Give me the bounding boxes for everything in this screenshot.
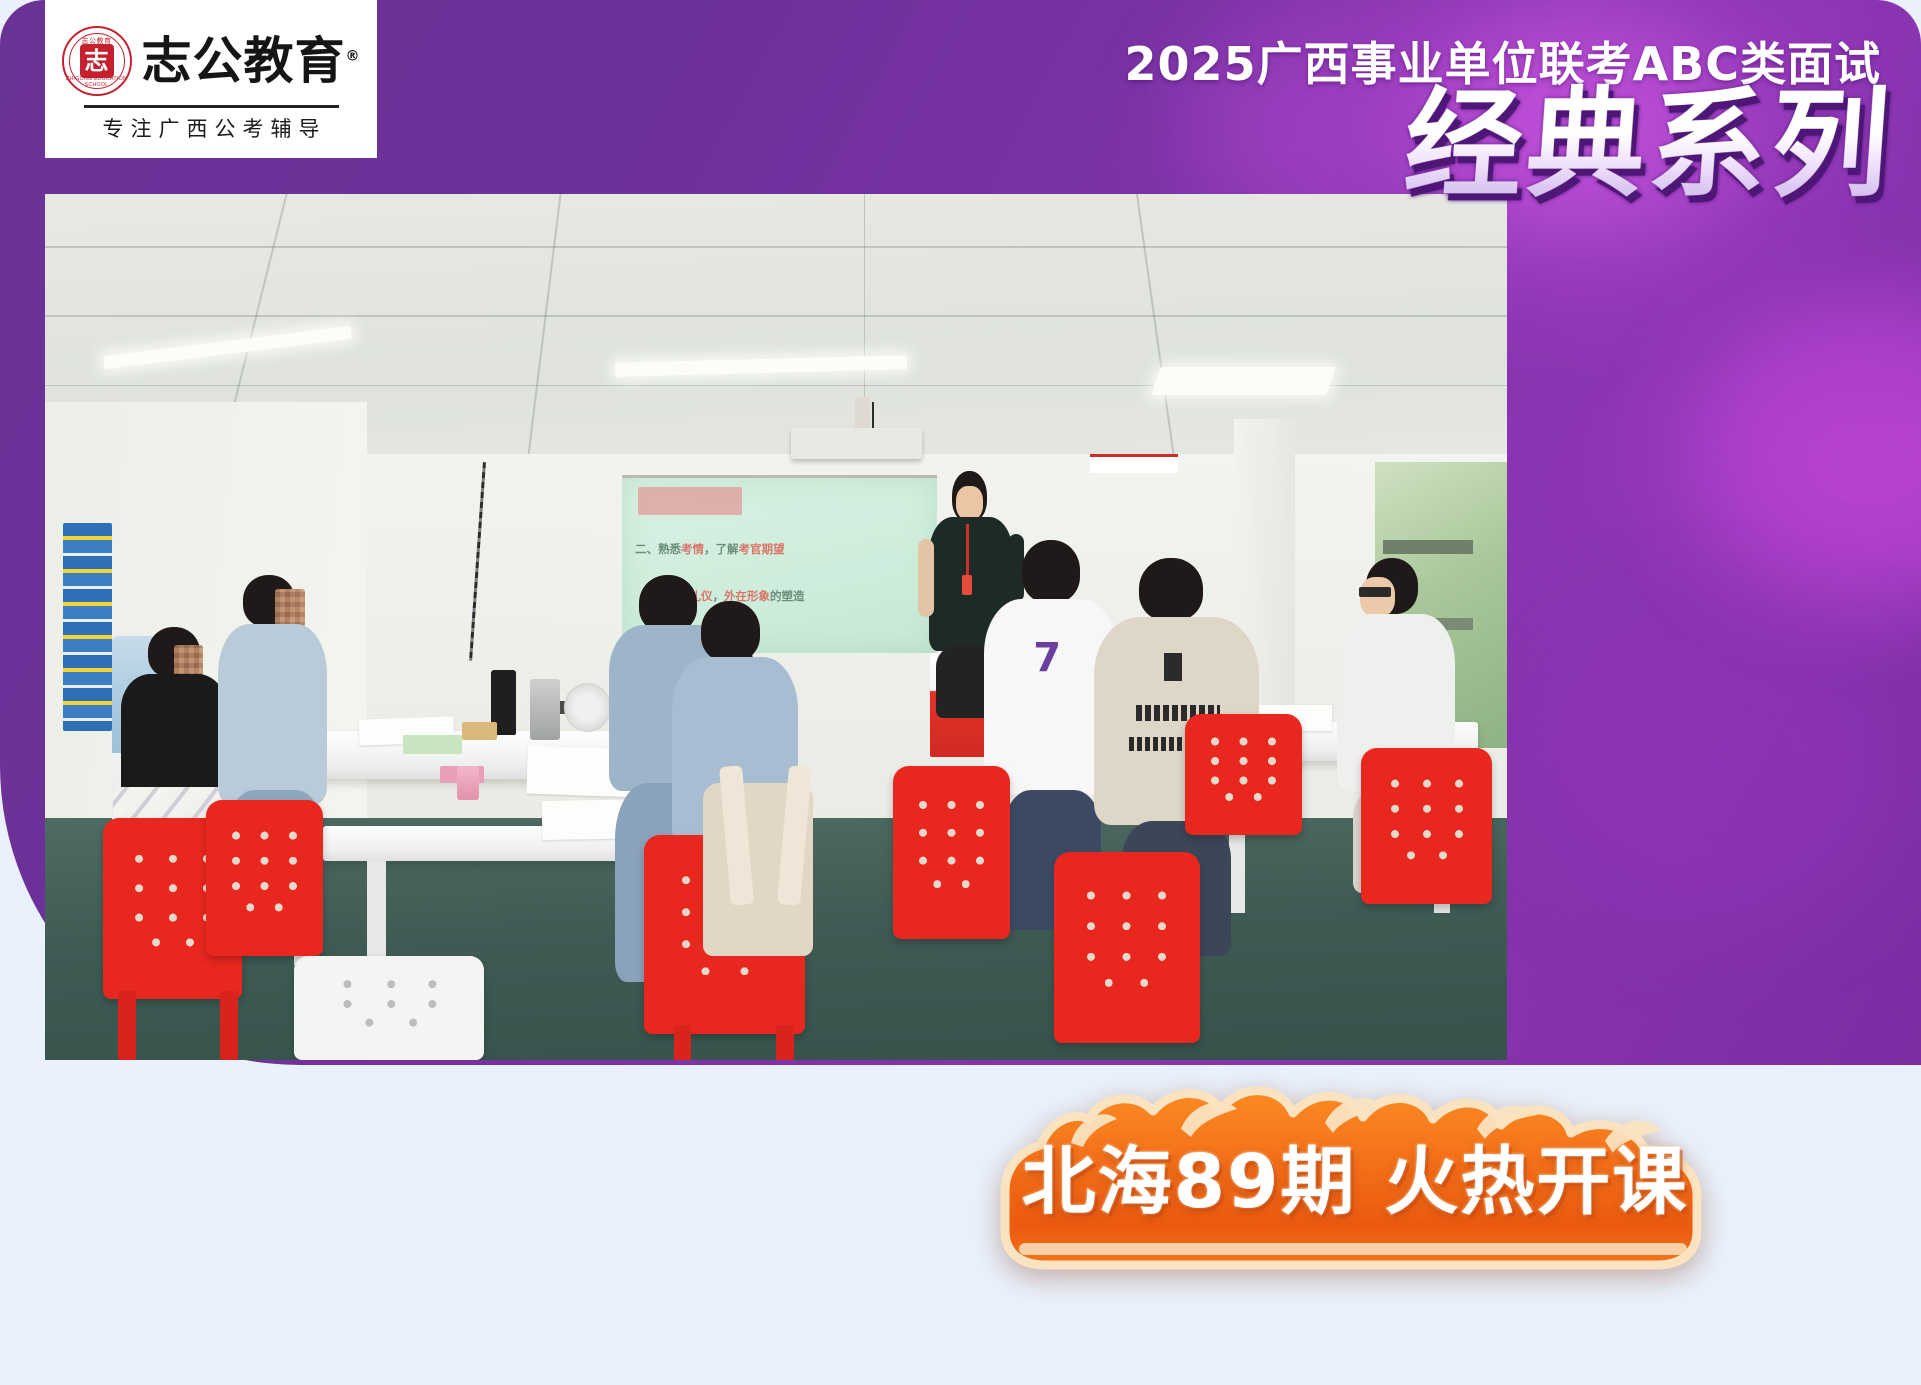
student-e-head	[1022, 540, 1080, 602]
logo-divider	[84, 105, 339, 108]
glow-blob-4	[1540, 620, 1900, 920]
chair-leg	[220, 991, 238, 1060]
poster-root: 志公教育 志 ZHIGONG EDUCATION SCHOOL 志公教育® 专注…	[0, 0, 1921, 1385]
glasses-icon	[1359, 587, 1391, 597]
teacher-badge	[962, 575, 973, 594]
jersey-number: 7	[1033, 638, 1061, 678]
pink-cup	[457, 766, 479, 801]
chair-red	[206, 800, 323, 956]
projector-mount	[855, 397, 870, 432]
chair-red	[1054, 852, 1200, 1043]
student-f-head	[1139, 558, 1202, 622]
brand-name-text: 志公教育	[142, 32, 346, 90]
chair-leg	[674, 1025, 692, 1060]
slide-line-1: 二、熟悉考情，了解考官期望	[635, 541, 924, 557]
teacher-face	[956, 486, 983, 520]
chair-red	[1361, 748, 1493, 904]
brand-seal-icon: 志公教育 志 ZHIGONG EDUCATION SCHOOL	[62, 26, 132, 96]
ceiling-light	[1152, 367, 1336, 395]
book-green	[403, 735, 461, 754]
glow-blob-2	[1700, 300, 1921, 600]
chair-red	[1185, 714, 1302, 835]
tee-print-block	[1164, 653, 1182, 681]
classroom-photo: 二、熟悉考情，了解考官期望 学习礼仪，外在形象的塑造	[45, 194, 1507, 1060]
window-rail	[1383, 540, 1474, 554]
student-b-face-mosaic	[275, 589, 305, 627]
brand-tagline: 专注广西公考辅导	[96, 113, 327, 143]
registered-mark: ®	[346, 48, 361, 64]
brand-logo-box: 志公教育 志 ZHIGONG EDUCATION SCHOOL 志公教育® 专注…	[45, 0, 377, 158]
promo-banner[interactable]: 北海89期 火热开课	[985, 1073, 1725, 1273]
student-b-top	[218, 624, 327, 804]
slide-l1-em2: 考官期望	[739, 542, 785, 556]
chair-leg	[118, 991, 136, 1060]
ceiling-grid-line	[45, 246, 1507, 248]
seal-center-char: 志	[80, 44, 114, 78]
slide-l1-prefix: 二、熟悉	[635, 542, 681, 556]
chair-red	[893, 766, 1010, 939]
student-g-face	[1360, 577, 1394, 616]
page-title: 经典系列	[1400, 78, 1897, 210]
student-a-top	[121, 674, 226, 798]
teacher-lanyard	[966, 524, 969, 577]
ceiling-grid-line	[45, 315, 1507, 317]
thermos-cup	[530, 679, 559, 740]
slide-l1-em1: 考情	[681, 542, 704, 556]
book-tan	[462, 722, 497, 739]
ceiling-projector	[791, 428, 923, 459]
chair-white	[294, 956, 484, 1060]
wall-sign	[1090, 454, 1178, 473]
slide-l1-mid: ，了解	[704, 542, 739, 556]
seal-bottom-text: ZHIGONG EDUCATION SCHOOL	[64, 76, 130, 88]
student-a-face-mosaic	[174, 645, 203, 678]
logo-row: 志公教育 志 ZHIGONG EDUCATION SCHOOL 志公教育®	[62, 24, 361, 98]
book-stack	[63, 523, 113, 731]
chair-leg	[776, 1025, 794, 1060]
slide-logo	[638, 487, 742, 515]
teacher-arm-left	[918, 539, 933, 617]
brand-name: 志公教育®	[142, 36, 361, 86]
promo-banner-text: 北海89期 火热开课	[985, 1145, 1725, 1219]
